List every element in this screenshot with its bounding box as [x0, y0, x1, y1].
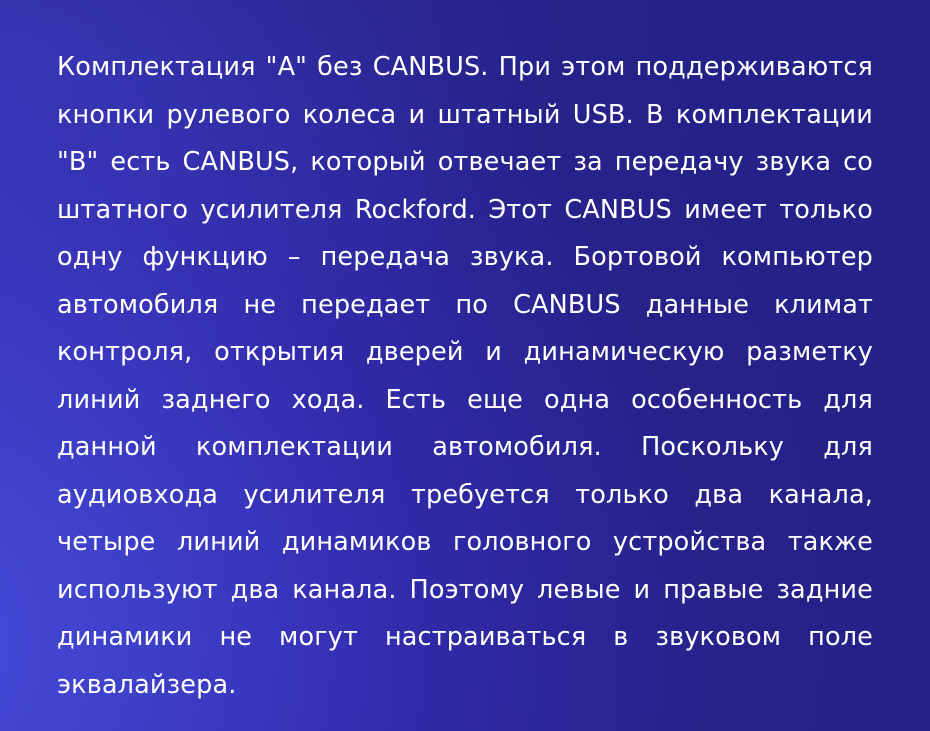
slide-canvas: Комплектация "А" без CANBUS. При этом по…: [0, 0, 930, 731]
body-paragraph: Комплектация "А" без CANBUS. При этом по…: [57, 44, 873, 731]
body-text-block: Комплектация "А" без CANBUS. При этом по…: [57, 44, 873, 731]
